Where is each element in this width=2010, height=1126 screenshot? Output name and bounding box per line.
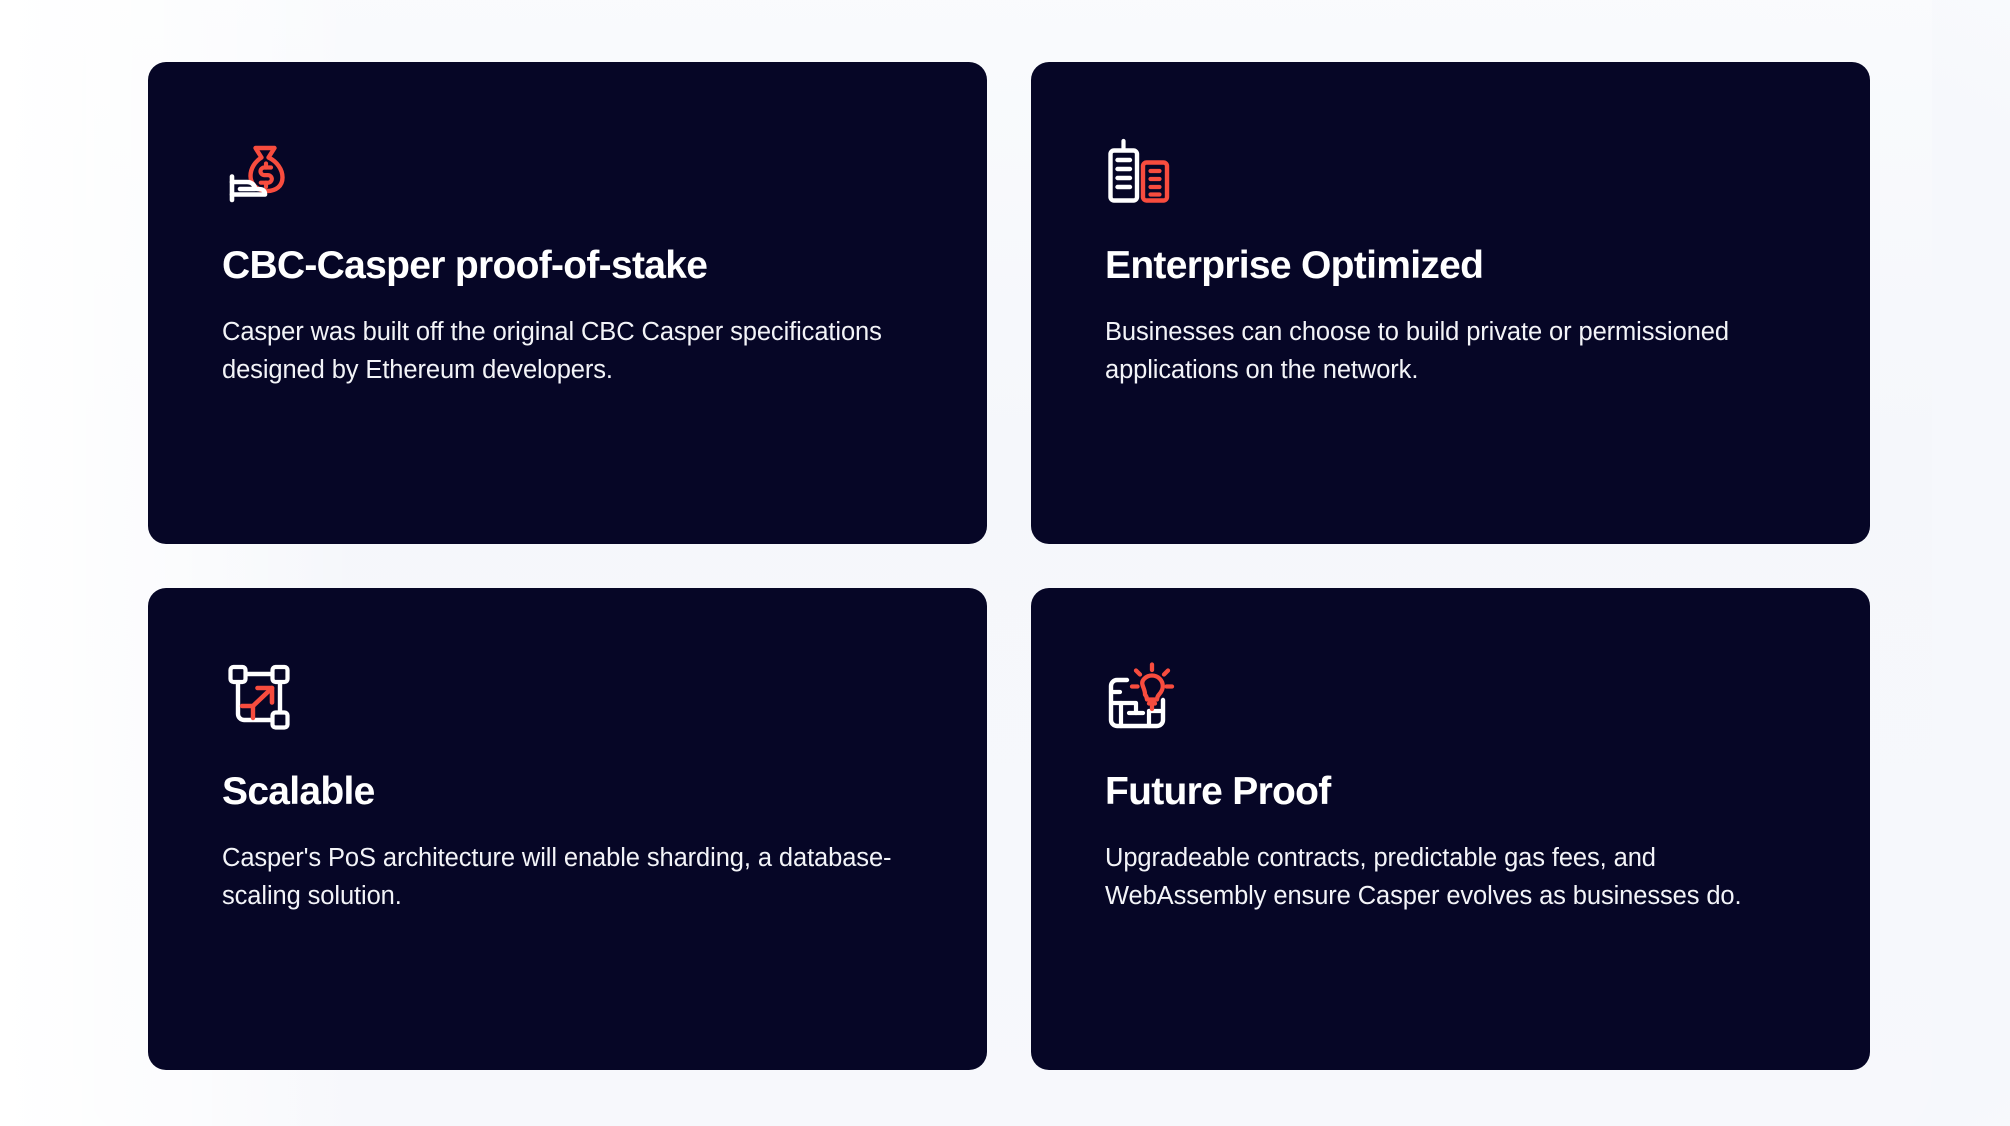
feature-card-scalable[interactable]: Scalable Casper's PoS architecture will … (148, 588, 987, 1070)
card-title: Scalable (222, 770, 913, 814)
card-title: CBC-Casper proof-of-stake (222, 244, 913, 288)
feature-card-cbc-casper-proof-of-stake[interactable]: CBC-Casper proof-of-stake Casper was bui… (148, 62, 987, 544)
card-body: Businesses can choose to build private o… (1105, 313, 1796, 391)
card-title: Future Proof (1105, 770, 1796, 814)
lightbulb-circuit-icon (1105, 662, 1179, 736)
card-body: Upgradeable contracts, predictable gas f… (1105, 839, 1796, 917)
card-title: Enterprise Optimized (1105, 244, 1796, 288)
card-body: Casper was built off the original CBC Ca… (222, 313, 902, 391)
feature-card-future-proof[interactable]: Future Proof Upgradeable contracts, pred… (1031, 588, 1870, 1070)
feature-card-enterprise-optimized[interactable]: Enterprise Optimized Businesses can choo… (1031, 62, 1870, 544)
office-buildings-icon (1105, 136, 1179, 210)
money-bag-in-hand-icon (222, 136, 296, 210)
feature-card-grid: CBC-Casper proof-of-stake Casper was bui… (148, 0, 1870, 1070)
card-body: Casper's PoS architecture will enable sh… (222, 839, 902, 917)
resize-expand-arrow-icon (222, 662, 296, 736)
